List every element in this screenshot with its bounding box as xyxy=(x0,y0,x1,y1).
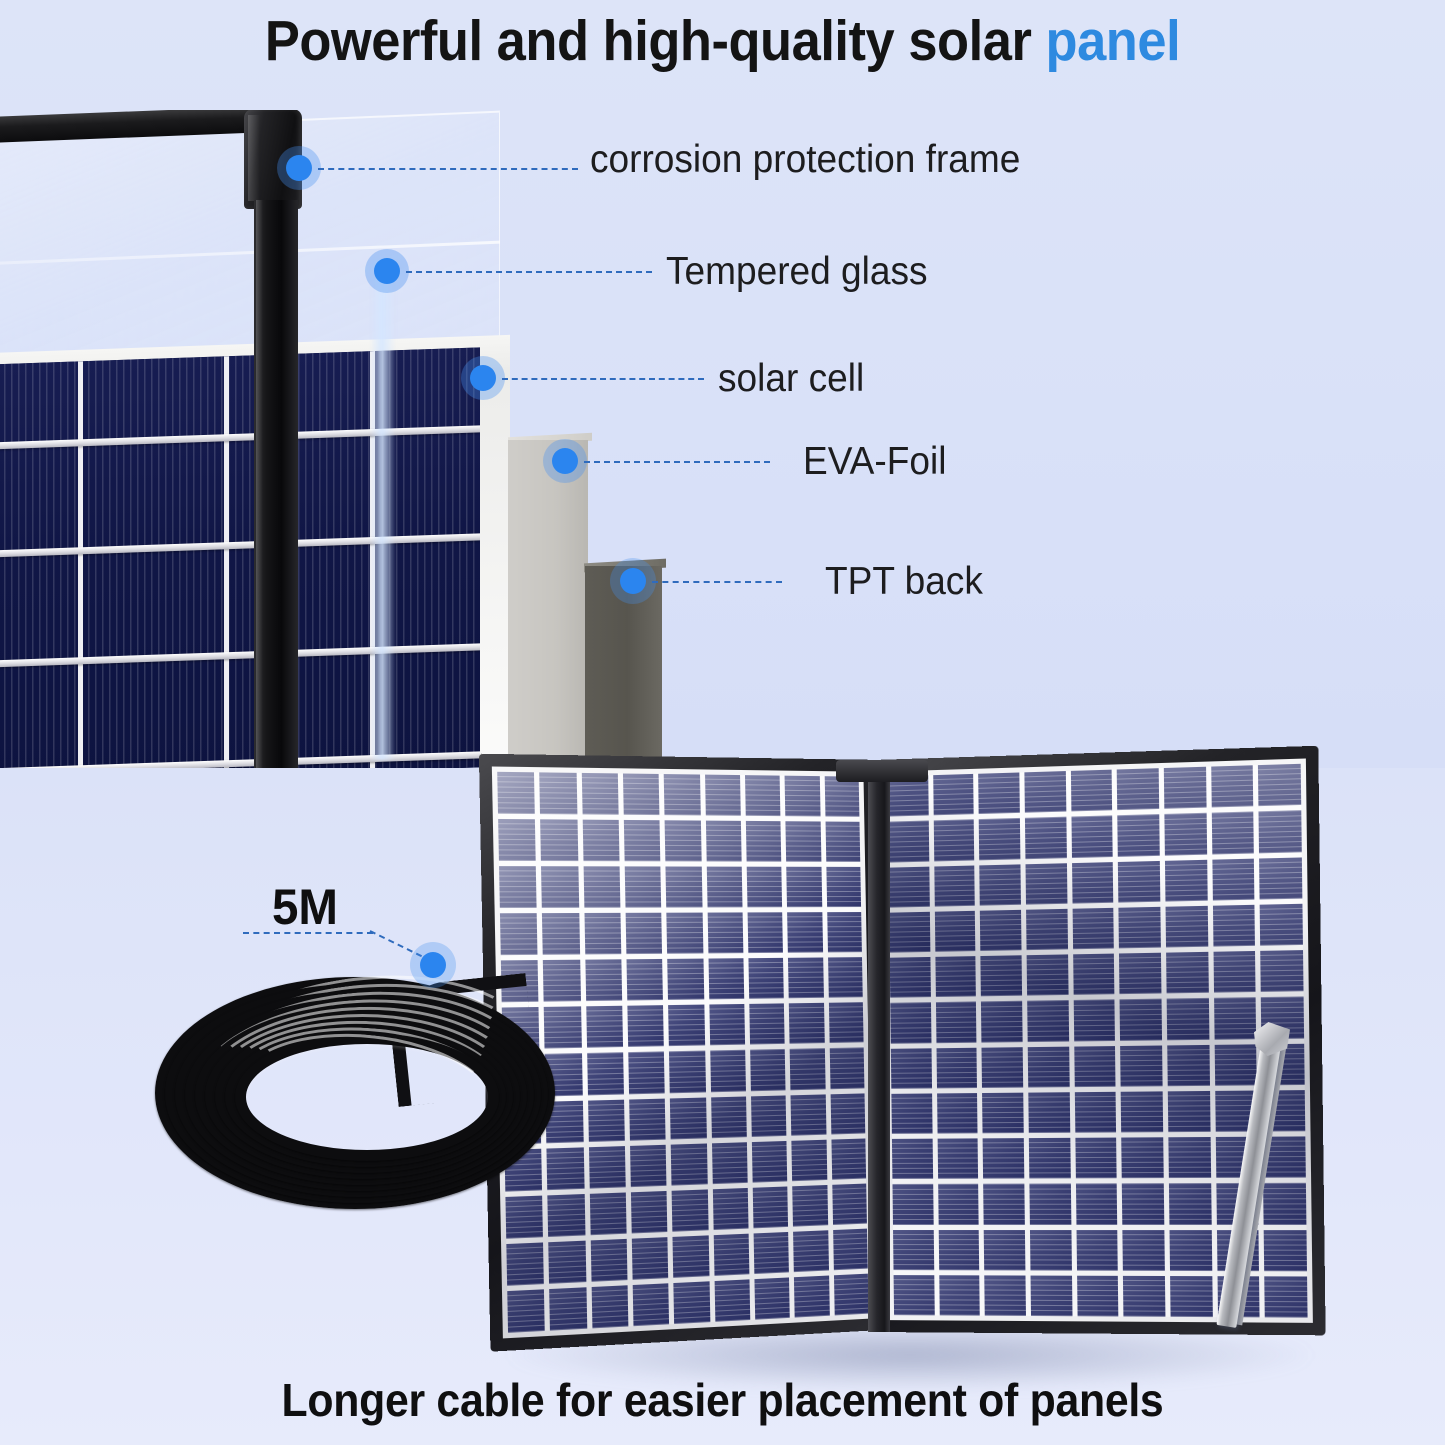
solar-cell xyxy=(1164,767,1206,809)
title-accent: panel xyxy=(1046,9,1181,73)
solar-cell xyxy=(585,960,622,1002)
solar-cell xyxy=(1119,907,1161,949)
solar-cell xyxy=(669,1051,705,1093)
solar-cell xyxy=(667,913,703,954)
solar-cell xyxy=(540,819,578,861)
solar-cell xyxy=(1074,1092,1116,1133)
solar-cell xyxy=(672,1189,708,1231)
solar-cell xyxy=(1025,817,1067,859)
solar-cell xyxy=(628,1052,665,1094)
solar-cell xyxy=(825,822,860,862)
solar-cell xyxy=(708,959,744,1000)
solar-cell xyxy=(627,1006,664,1048)
solar-cell xyxy=(588,1099,625,1141)
cell-grid-texture xyxy=(0,347,480,768)
solar-cell xyxy=(1212,858,1255,900)
solar-cell xyxy=(1076,1230,1118,1271)
solar-cell xyxy=(826,867,861,907)
solar-cell xyxy=(981,1001,1022,1042)
callout-label: TPT back xyxy=(825,560,983,604)
solar-cell xyxy=(706,867,742,908)
solar-cell xyxy=(670,1097,706,1139)
solar-cell xyxy=(786,821,821,862)
solar-cell xyxy=(754,1277,790,1319)
solar-cell xyxy=(794,1275,829,1317)
solar-cell xyxy=(1075,1138,1117,1179)
solar-cell xyxy=(1118,860,1160,902)
solar-cell xyxy=(549,1287,586,1330)
solar-cell xyxy=(933,774,974,816)
callout-leader-line xyxy=(406,271,652,273)
solar-cell xyxy=(1071,816,1113,858)
solar-cell xyxy=(936,1002,977,1043)
solar-cell xyxy=(1119,953,1161,995)
solar-cell xyxy=(747,867,783,908)
solar-cell xyxy=(713,1233,749,1275)
solar-cell xyxy=(1167,1044,1209,1086)
solar-cell xyxy=(1028,1046,1070,1087)
solar-cell xyxy=(1213,905,1256,947)
solar-cell xyxy=(1168,1137,1210,1178)
callout-label: corrosion protection frame xyxy=(590,138,1020,182)
solar-cell xyxy=(1120,999,1162,1041)
solar-cell xyxy=(1166,906,1208,948)
callout-dot[interactable] xyxy=(620,568,646,594)
solar-cell xyxy=(1117,768,1159,810)
solar-cell xyxy=(981,955,1022,996)
solar-cell xyxy=(891,1093,932,1134)
solar-cell xyxy=(507,1289,545,1333)
solar-cell xyxy=(937,1138,978,1179)
solar-cell xyxy=(1264,1230,1307,1271)
solar-cell xyxy=(894,1275,935,1316)
solar-cell xyxy=(938,1184,979,1225)
solar-cell xyxy=(1214,997,1257,1039)
solar-cell xyxy=(1170,1276,1212,1317)
solar-cell xyxy=(890,1002,931,1043)
solar-cell xyxy=(1073,1000,1115,1041)
solar-cell xyxy=(549,1240,586,1283)
cable-length-label: 5M xyxy=(272,878,338,936)
solar-cell xyxy=(980,864,1021,906)
exploded-layer-diagram xyxy=(0,110,720,768)
solar-cell xyxy=(498,819,536,861)
solar-cell xyxy=(713,1188,749,1230)
solar-cell xyxy=(933,819,974,861)
solar-cell xyxy=(1260,904,1303,946)
solar-cell xyxy=(1071,770,1113,812)
callout-dot[interactable] xyxy=(552,448,578,474)
solar-cell xyxy=(1076,1184,1118,1225)
solar-cell xyxy=(673,1235,709,1278)
solar-cell xyxy=(934,865,975,906)
solar-cell xyxy=(1074,1046,1116,1087)
solar-cell xyxy=(938,1230,979,1271)
solar-cell xyxy=(1214,1044,1257,1086)
solar-cell xyxy=(788,958,823,999)
solar-cell xyxy=(666,867,702,908)
solar-cell xyxy=(1259,810,1302,852)
solar-cell xyxy=(1123,1230,1165,1271)
solar-cell xyxy=(985,1275,1026,1316)
callout-leader-line xyxy=(502,378,704,380)
solar-cell xyxy=(753,1186,789,1228)
solar-cell xyxy=(893,1230,934,1270)
solar-cell xyxy=(712,1142,748,1184)
page-title: Powerful and high-quality solar panel xyxy=(58,8,1387,74)
solar-cell xyxy=(589,1146,626,1189)
solar-cell xyxy=(668,959,704,1000)
solar-cell xyxy=(830,1093,865,1134)
solar-cell xyxy=(497,772,535,814)
solar-cell xyxy=(714,1279,750,1322)
solar-cell xyxy=(935,911,976,952)
solar-cell xyxy=(1265,1276,1308,1318)
solar-cell xyxy=(1166,952,1208,994)
solar-cell xyxy=(829,1048,864,1089)
solar-cell xyxy=(1120,1045,1162,1086)
solar-cell xyxy=(541,866,579,908)
solar-cell xyxy=(1029,1138,1071,1179)
callout-dot[interactable] xyxy=(374,258,400,284)
solar-cell xyxy=(630,1144,667,1186)
solar-cell xyxy=(709,1004,745,1045)
solar-cell xyxy=(1072,908,1114,950)
solar-cell xyxy=(892,1139,933,1180)
solar-cell xyxy=(1118,814,1160,856)
title-main: Powerful and high-quality solar xyxy=(265,9,1032,73)
solar-cell xyxy=(748,958,784,999)
solar-cell xyxy=(707,913,743,954)
solar-cell xyxy=(829,1003,864,1044)
solar-cell xyxy=(582,820,619,862)
solar-cell xyxy=(706,821,742,862)
solar-cell xyxy=(980,910,1021,951)
solar-cell-layer xyxy=(0,347,480,768)
solar-cell xyxy=(1072,862,1114,904)
solar-cell xyxy=(792,1139,827,1181)
solar-cell xyxy=(1258,764,1301,807)
solar-cell xyxy=(589,1192,626,1235)
solar-cell xyxy=(1213,951,1256,993)
solar-cell xyxy=(632,1237,669,1280)
solar-cell xyxy=(633,1283,670,1326)
solar-cell xyxy=(1165,859,1207,901)
solar-cell xyxy=(1029,1184,1071,1225)
solar-cell xyxy=(754,1232,790,1274)
solar-cell xyxy=(587,1053,624,1095)
solar-cell xyxy=(746,821,782,862)
solar-cell xyxy=(631,1191,668,1234)
callout-dot[interactable] xyxy=(286,155,312,181)
solar-cell xyxy=(833,1228,868,1270)
solar-cell xyxy=(979,818,1020,860)
solar-cell xyxy=(1026,863,1068,905)
solar-cell xyxy=(787,912,822,953)
callout-leader-line xyxy=(318,168,578,170)
solar-cell xyxy=(1168,1091,1210,1132)
solar-cell xyxy=(1259,857,1302,899)
glass-specular-sheen xyxy=(370,260,396,760)
solar-cell xyxy=(1077,1275,1119,1316)
solar-cell xyxy=(890,957,931,998)
solar-cell xyxy=(888,821,929,862)
solar-cell xyxy=(982,1092,1023,1133)
solar-cell xyxy=(1123,1276,1165,1317)
solar-cell xyxy=(1028,1092,1070,1133)
solar-cell xyxy=(1211,765,1254,807)
solar-cell xyxy=(983,1184,1024,1225)
solar-cell xyxy=(824,776,859,817)
solar-cell xyxy=(752,1141,788,1183)
solar-cell xyxy=(982,1047,1023,1088)
solar-cell xyxy=(1031,1275,1073,1316)
solar-cell xyxy=(1261,950,1304,992)
solar-cell xyxy=(665,820,701,861)
callout-leader-line xyxy=(652,581,782,583)
callout-dot[interactable] xyxy=(420,952,446,978)
solar-cell xyxy=(711,1096,747,1138)
solar-cell xyxy=(671,1143,707,1185)
solar-cell xyxy=(793,1185,828,1227)
cable-coil xyxy=(140,955,570,1245)
solar-cell xyxy=(750,1049,786,1090)
solar-cell xyxy=(751,1095,787,1137)
solar-cell xyxy=(586,1006,623,1048)
solar-cell xyxy=(629,1098,666,1140)
solar-cell xyxy=(889,866,930,907)
solar-cell xyxy=(1122,1183,1164,1224)
solar-cell xyxy=(787,867,822,908)
solar-cell xyxy=(791,1094,826,1135)
solar-cell xyxy=(984,1230,1025,1271)
solar-cell xyxy=(978,772,1019,814)
tpt-back-layer xyxy=(585,566,662,768)
solar-cell xyxy=(789,1003,824,1044)
solar-cell xyxy=(828,957,863,998)
solar-cell xyxy=(891,1048,932,1089)
solar-cell xyxy=(1027,1000,1069,1041)
frame-highlight xyxy=(256,200,263,768)
solar-cell xyxy=(590,1239,627,1282)
solar-cell xyxy=(889,912,930,953)
solar-cell xyxy=(1024,771,1066,813)
solar-cell xyxy=(1121,1091,1163,1132)
solar-cell xyxy=(624,820,661,861)
callout-dot[interactable] xyxy=(470,365,496,391)
solar-cell xyxy=(749,1004,785,1045)
panel-hinge-cap xyxy=(836,760,928,782)
solar-cell xyxy=(1026,909,1068,951)
solar-cell xyxy=(626,913,663,954)
solar-cell xyxy=(936,1047,977,1088)
solar-cell xyxy=(745,775,781,816)
solar-cell xyxy=(1167,998,1209,1040)
solar-cell xyxy=(935,956,976,997)
solar-cell xyxy=(785,776,820,817)
solar-cell xyxy=(827,912,862,952)
solar-cell xyxy=(1122,1137,1164,1178)
solar-cell xyxy=(625,867,662,908)
solar-cell xyxy=(591,1285,628,1328)
callout-leader-line xyxy=(584,461,770,463)
solar-cell xyxy=(540,772,578,814)
eva-foil-layer xyxy=(508,440,588,768)
solar-cell xyxy=(581,773,618,815)
solar-cell xyxy=(500,913,538,955)
solar-cell xyxy=(1170,1230,1212,1271)
solar-cell xyxy=(831,1138,866,1179)
solar-cell xyxy=(892,1184,933,1224)
solar-cell xyxy=(939,1275,980,1316)
solar-cell xyxy=(832,1183,867,1225)
solar-cell xyxy=(506,1242,544,1285)
solar-cell xyxy=(542,913,580,955)
panel-hinge xyxy=(868,766,890,1332)
solar-cell xyxy=(584,913,621,955)
folding-solar-panel xyxy=(470,760,1330,1400)
callout-label: Tempered glass xyxy=(666,250,928,294)
solar-cell xyxy=(583,866,620,908)
bottom-caption: Longer cable for easier placement of pan… xyxy=(51,1373,1395,1427)
solar-cell xyxy=(1164,813,1206,855)
callout-label: solar cell xyxy=(718,357,864,401)
solar-cell xyxy=(1263,1183,1306,1224)
solar-cell xyxy=(668,1005,704,1047)
callout-label: EVA-Foil xyxy=(803,440,946,484)
solar-cell xyxy=(674,1281,710,1324)
solar-cell xyxy=(793,1230,828,1272)
solar-cell xyxy=(1030,1230,1072,1271)
solar-cell xyxy=(626,959,663,1001)
solar-cell xyxy=(937,1093,978,1134)
solar-cell xyxy=(834,1274,869,1316)
solar-cell xyxy=(983,1138,1024,1179)
solar-cell xyxy=(1169,1183,1211,1224)
solar-cell xyxy=(499,866,537,908)
solar-cell xyxy=(748,913,784,954)
solar-cell xyxy=(710,1050,746,1092)
solar-cell xyxy=(1027,954,1069,995)
solar-cell xyxy=(790,1049,825,1090)
solar-cell xyxy=(664,774,700,815)
solar-cell xyxy=(1211,812,1254,854)
callout-leader-line xyxy=(243,932,373,934)
solar-cell xyxy=(705,775,741,816)
solar-cell xyxy=(1073,954,1115,996)
solar-cell xyxy=(623,773,660,815)
